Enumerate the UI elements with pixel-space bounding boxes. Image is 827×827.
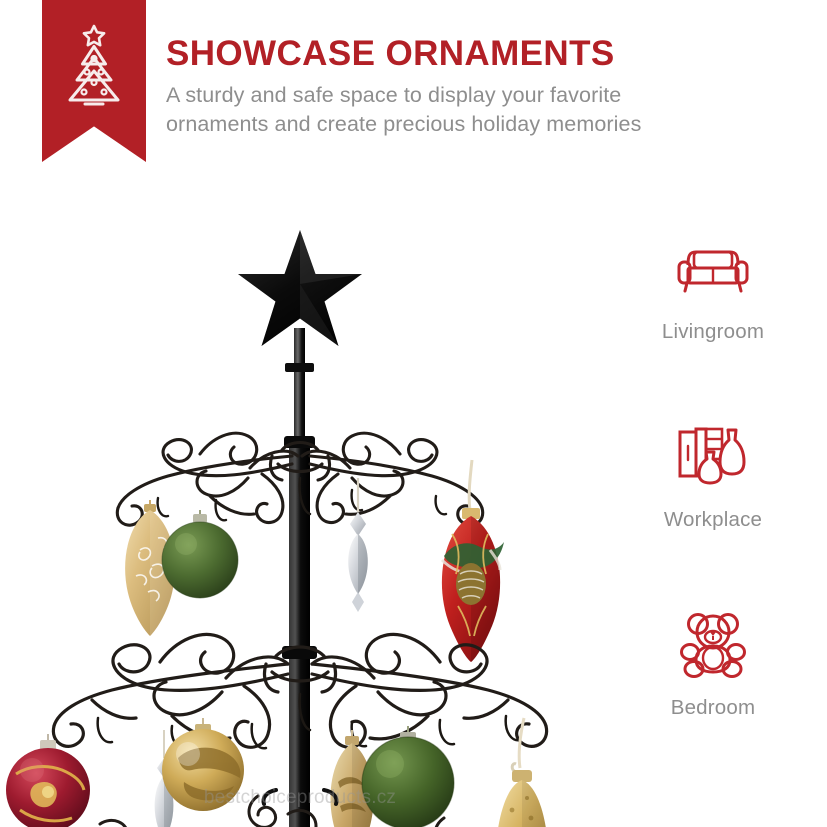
product-photo: bestchoiceproducts.cz — [0, 178, 600, 827]
gold-glitter-bell-ornament — [495, 718, 549, 827]
shelf-vases-icon — [674, 416, 752, 498]
ribbon-badge — [42, 0, 146, 162]
gold-ball-ornament — [162, 718, 244, 811]
red-glitter-ball-ornament — [6, 734, 90, 827]
page-subtitle-line-2: ornaments and create precious holiday me… — [166, 112, 641, 136]
page-subtitle-line-1: A sturdy and safe space to display your … — [166, 83, 621, 107]
feature-livingroom: Livingroom — [599, 228, 827, 416]
page-title: SHOWCASE ORNAMENTS — [166, 36, 811, 71]
feature-label-workplace: Workplace — [664, 508, 762, 532]
feature-bedroom: Bedroom — [599, 604, 827, 792]
teddy-bear-icon — [677, 604, 749, 686]
promo-banner-page: SHOWCASE ORNAMENTS A sturdy and safe spa… — [0, 0, 827, 827]
green-glitter-ball-ornament — [162, 510, 238, 598]
sofa-icon — [674, 228, 752, 310]
green-glitter-ball-ornament-2 — [362, 726, 454, 827]
page-subtitle: A sturdy and safe space to display your … — [166, 81, 811, 138]
header-text-block: SHOWCASE ORNAMENTS A sturdy and safe spa… — [166, 36, 811, 138]
feature-label-livingroom: Livingroom — [662, 320, 764, 344]
feature-workplace: Workplace — [599, 416, 827, 604]
feature-rail: Livingroom — [599, 228, 827, 792]
christmas-tree-icon — [42, 22, 146, 114]
header: SHOWCASE ORNAMENTS A sturdy and safe spa… — [0, 0, 827, 178]
feature-label-bedroom: Bedroom — [671, 696, 756, 720]
red-pinecone-teardrop-ornament — [442, 460, 504, 662]
